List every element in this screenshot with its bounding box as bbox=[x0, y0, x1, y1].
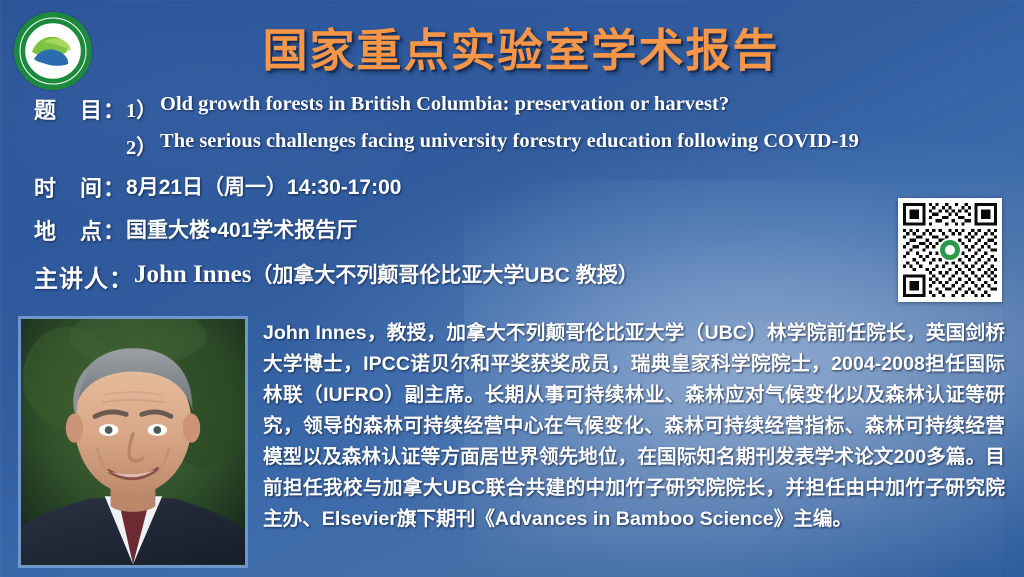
portrait-illustration bbox=[21, 319, 245, 564]
speaker-portrait-photo bbox=[18, 316, 248, 568]
topic-text: The serious challenges facing university… bbox=[160, 130, 859, 160]
time-row: 时 间： 8月21日（周一）14:30-17:00 bbox=[34, 171, 994, 203]
poster-header: 国家重点实验室学术报告 bbox=[0, 0, 1024, 92]
place-label: 地 点： bbox=[34, 214, 126, 246]
speaker-name: John Innes bbox=[134, 261, 251, 288]
page-title: 国家重点实验室学术报告 bbox=[0, 14, 1024, 79]
qr-code-icon[interactable] bbox=[898, 198, 1002, 302]
time-value: 8月21日（周一）14:30-17:00 bbox=[126, 171, 401, 201]
speaker-label: 主讲人： bbox=[34, 259, 134, 294]
lab-emblem-icon bbox=[938, 238, 962, 262]
time-label: 时 间： bbox=[34, 171, 126, 203]
speaker-value: John Innes（加拿大不列颠哥伦比亚大学UBC 教授） bbox=[134, 259, 639, 289]
topic-label: 题 目： bbox=[34, 93, 126, 125]
place-value: 国重大楼•401学术报告厅 bbox=[126, 214, 357, 244]
topic-number: 2） bbox=[126, 130, 160, 160]
topic-number: 1） bbox=[126, 93, 160, 123]
info-block: 题 目： 1） Old growth forests in British Co… bbox=[34, 93, 994, 294]
place-row: 地 点： 国重大楼•401学术报告厅 bbox=[34, 214, 994, 246]
topic-list: 1） Old growth forests in British Columbi… bbox=[126, 93, 859, 160]
list-item: 1） Old growth forests in British Columbi… bbox=[126, 93, 859, 123]
speaker-bio: John Innes，教授，加拿大不列颠哥伦比亚大学（UBC）林学院前任院长，英… bbox=[263, 318, 1005, 535]
list-item: 2） The serious challenges facing univers… bbox=[126, 130, 859, 160]
topic-row: 题 目： 1） Old growth forests in British Co… bbox=[34, 93, 994, 160]
speaker-affiliation: （加拿大不列颠哥伦比亚大学UBC 教授） bbox=[251, 264, 638, 287]
topic-text: Old growth forests in British Columbia: … bbox=[160, 93, 729, 123]
speaker-row: 主讲人： John Innes（加拿大不列颠哥伦比亚大学UBC 教授） bbox=[34, 259, 994, 294]
seminar-poster: 国家重点实验室学术报告 题 目： 1） Old growth forests i… bbox=[0, 0, 1024, 577]
